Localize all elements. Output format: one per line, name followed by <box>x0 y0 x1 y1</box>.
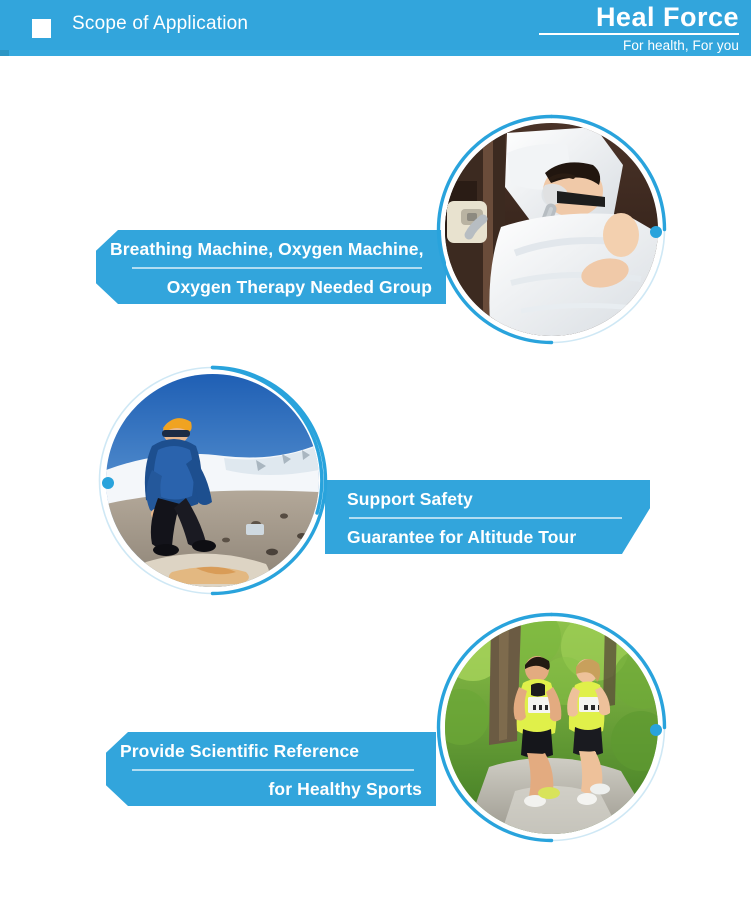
logo-tagline: For health, For you <box>539 35 739 54</box>
cpap-patient-sleeping-photo <box>445 123 658 336</box>
two-runners-in-park-photo <box>445 621 658 834</box>
banner-breathing-line1: Breathing Machine, Oxygen Machine, <box>110 231 432 267</box>
banner-altitude-line1: Support Safety <box>347 481 630 517</box>
circle-breathing <box>434 112 669 347</box>
banner-breathing-line2: Oxygen Therapy Needed Group <box>110 269 432 305</box>
banner-altitude-line2: Guarantee for Altitude Tour <box>347 519 630 555</box>
page-title: Scope of Application <box>72 13 248 35</box>
banner-sports: Provide Scientific Reference for Healthy… <box>106 732 436 806</box>
banner-breathing: Breathing Machine, Oxygen Machine, Oxyge… <box>96 230 446 304</box>
banner-sports-line1: Provide Scientific Reference <box>120 733 422 769</box>
runners-photo-svg <box>445 621 658 834</box>
mountaineer-on-glacier-photo <box>106 374 319 587</box>
logo-name: Heal Force <box>539 2 739 35</box>
circle-sports <box>434 610 669 845</box>
cpap-photo-svg <box>445 123 658 336</box>
banner-altitude: Support Safety Guarantee for Altitude To… <box>325 480 650 554</box>
banner-sports-line2: for Healthy Sports <box>120 771 422 807</box>
mountaineer-photo-svg <box>106 374 319 587</box>
header-underbar-accent <box>0 50 9 56</box>
brand-logo: Heal Force For health, For you <box>539 2 739 54</box>
circle-altitude <box>95 363 330 598</box>
square-bullet-icon <box>32 19 51 38</box>
